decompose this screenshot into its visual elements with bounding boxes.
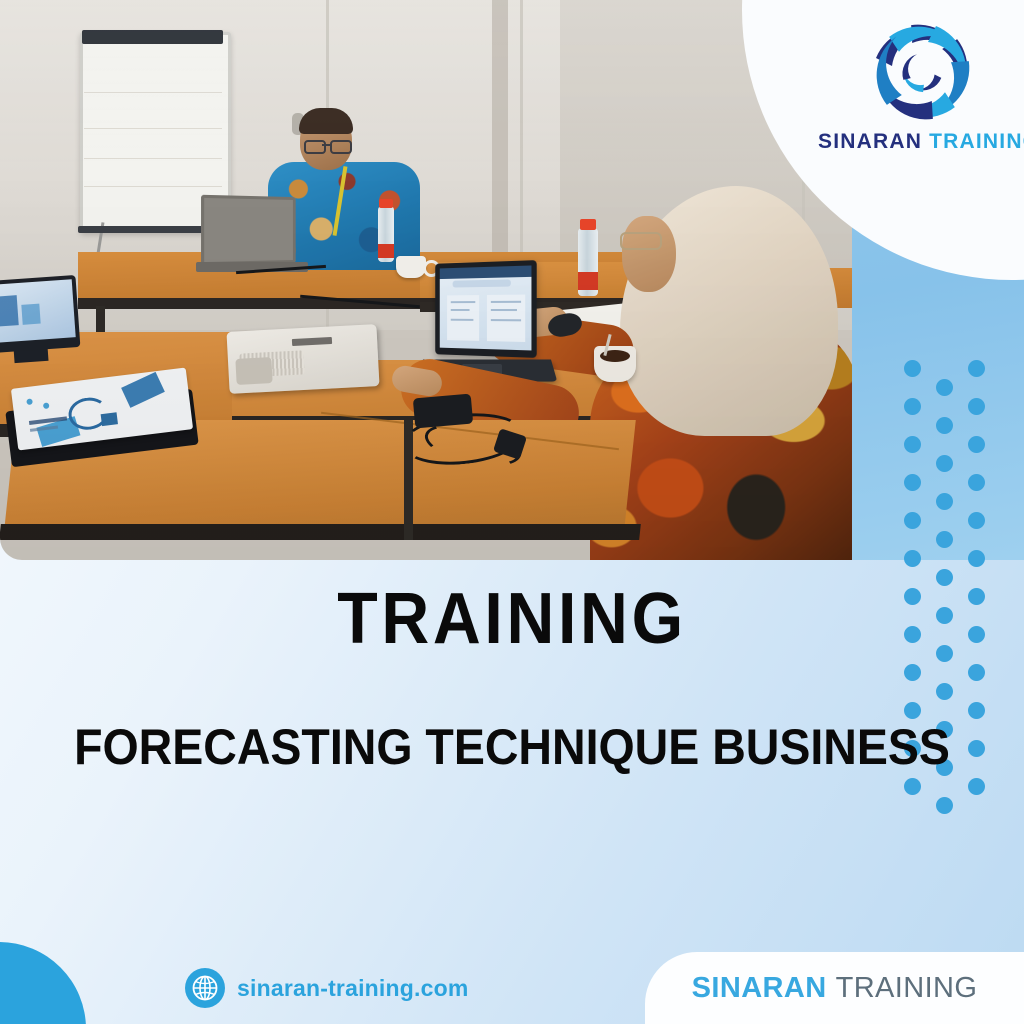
photo-shading bbox=[0, 0, 852, 560]
decorative-dot bbox=[936, 531, 953, 548]
decorative-dot bbox=[904, 702, 921, 719]
decorative-dot bbox=[904, 664, 921, 681]
decorative-dot bbox=[904, 512, 921, 529]
brand-logo-secondary: TRAINING bbox=[929, 130, 1024, 153]
training-room-photo bbox=[0, 0, 852, 560]
decorative-dot bbox=[968, 778, 985, 795]
decorative-dot bbox=[968, 550, 985, 567]
decorative-dot bbox=[904, 778, 921, 795]
decorative-dot bbox=[968, 664, 985, 681]
poster-canvas: SINARAN TRAINING TRAINING FORECASTING TE… bbox=[0, 0, 1024, 1024]
page-subtitle: FORECASTING TECHNIQUE BUSINESS bbox=[36, 718, 988, 776]
website-link[interactable]: sinaran-training.com bbox=[185, 958, 468, 1018]
decorative-dot bbox=[968, 474, 985, 491]
decorative-dot bbox=[968, 398, 985, 415]
swirl-vortex-icon bbox=[860, 18, 984, 130]
brand-logo: SINARAN TRAINING bbox=[818, 18, 1024, 168]
brand-logo-text: SINARAN TRAINING bbox=[818, 130, 1024, 154]
decorative-dot bbox=[968, 702, 985, 719]
website-url-text: sinaran-training.com bbox=[237, 975, 468, 1002]
decorative-dot bbox=[936, 417, 953, 434]
decorative-dot bbox=[936, 379, 953, 396]
page-title: TRAINING bbox=[41, 578, 983, 660]
corner-accent-shape bbox=[0, 942, 86, 1024]
decorative-dot bbox=[904, 550, 921, 567]
footer-brand: SINARANTRAINING bbox=[645, 952, 1024, 1024]
decorative-dot bbox=[968, 436, 985, 453]
footer-brand-secondary: TRAINING bbox=[827, 972, 978, 1005]
decorative-dot bbox=[936, 455, 953, 472]
decorative-dot bbox=[904, 474, 921, 491]
decorative-dot bbox=[936, 797, 953, 814]
decorative-dot bbox=[936, 683, 953, 700]
decorative-dot bbox=[904, 436, 921, 453]
decorative-dot bbox=[968, 512, 985, 529]
footer-brand-primary: SINARAN bbox=[692, 972, 827, 1005]
decorative-dot bbox=[904, 360, 921, 377]
brand-logo-primary: SINARAN bbox=[818, 130, 922, 153]
globe-icon bbox=[185, 968, 225, 1008]
decorative-dot bbox=[968, 360, 985, 377]
decorative-dot bbox=[936, 493, 953, 510]
decorative-dot bbox=[904, 398, 921, 415]
